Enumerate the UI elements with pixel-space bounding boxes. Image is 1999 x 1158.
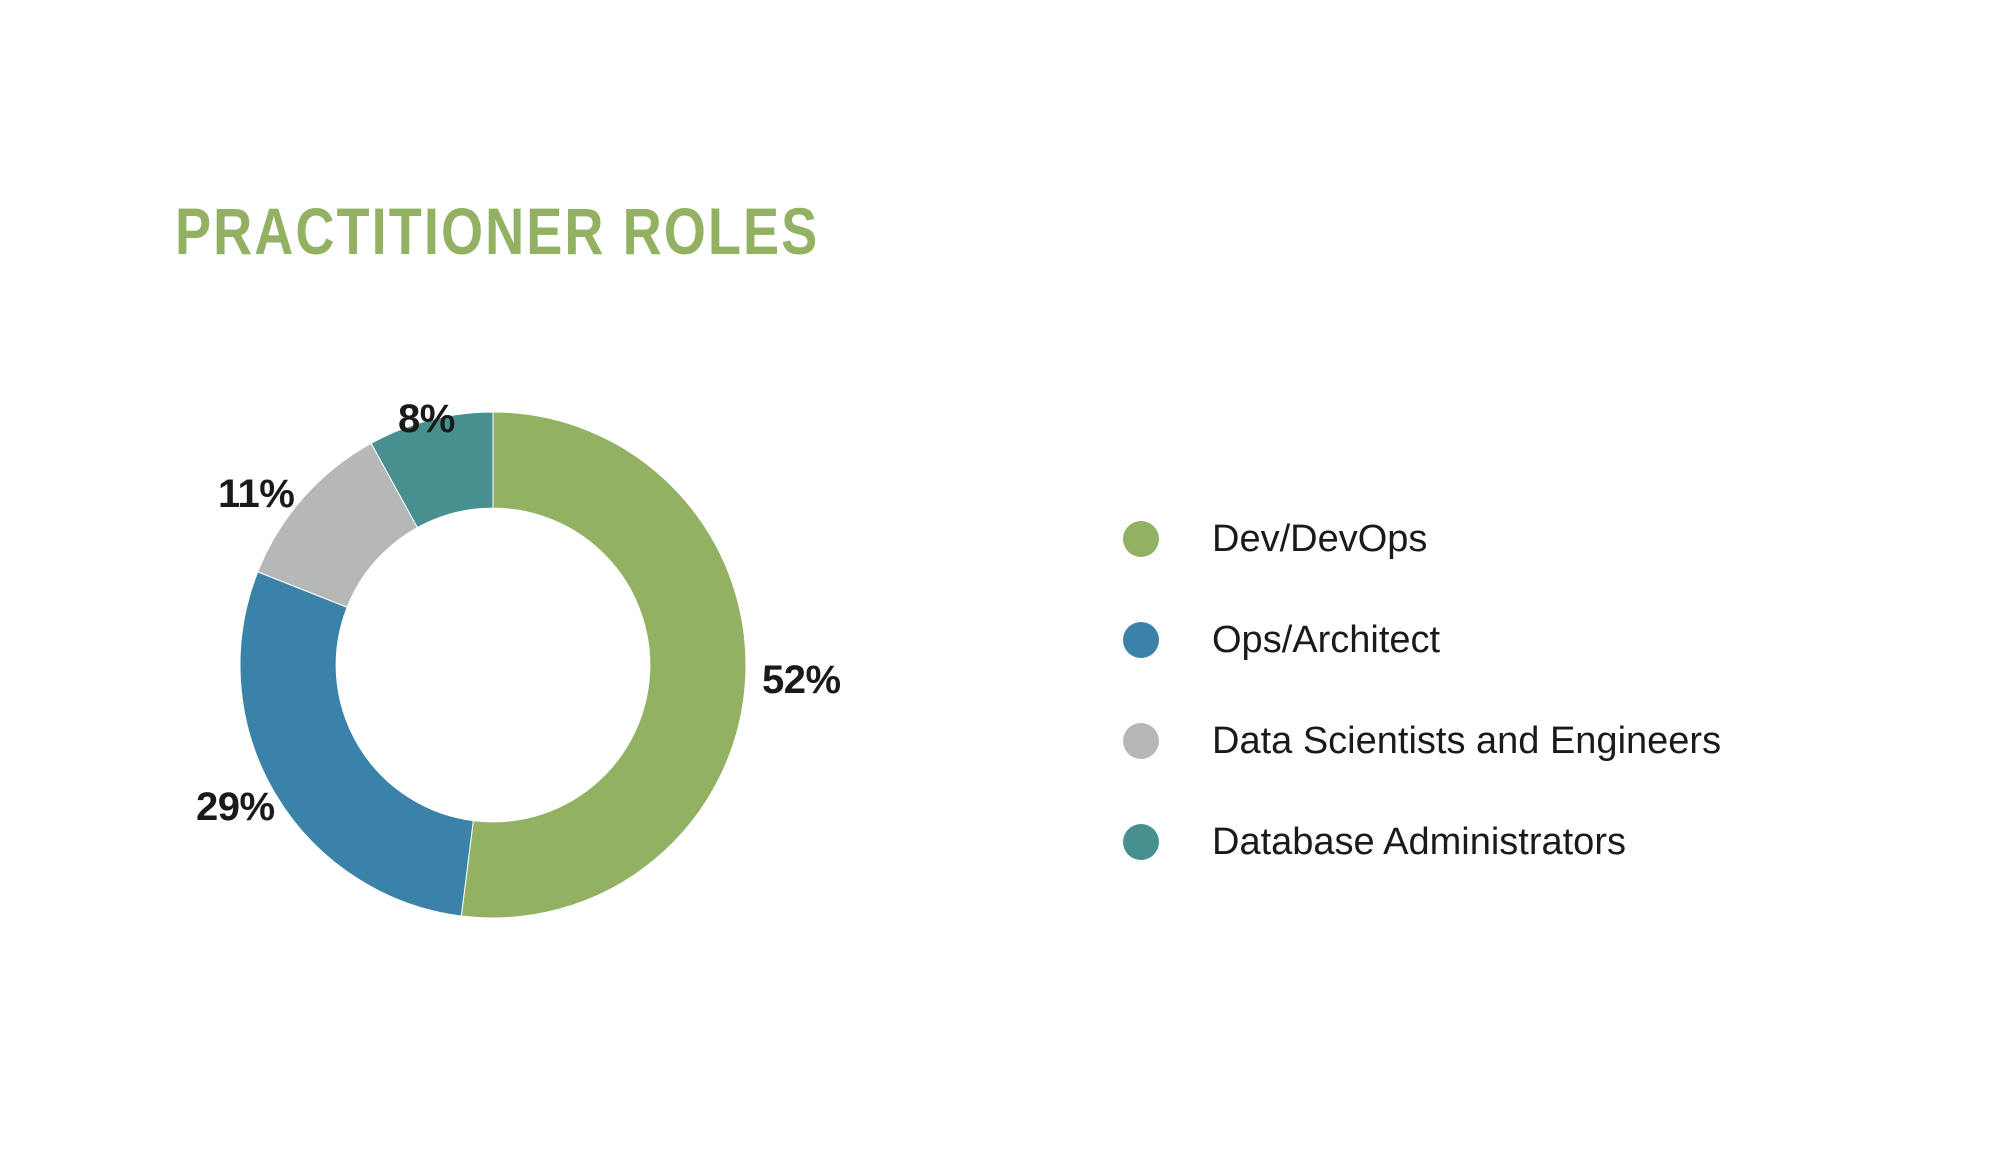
slice-value-label-ops-architect: 29%	[196, 785, 275, 830]
donut-slice-dev-devops[interactable]	[461, 412, 746, 918]
page-title: PRACTITIONER ROLES	[175, 198, 819, 264]
donut-slice-group	[240, 412, 746, 918]
legend-swatch-database-administrators-icon	[1123, 824, 1159, 860]
slice-value-label-database-administrators: 8%	[398, 397, 455, 442]
chart-legend: Dev/DevOps Ops/Architect Data Scientists…	[1123, 488, 1883, 892]
legend-swatch-data-scientists-icon	[1123, 723, 1159, 759]
legend-swatch-dev-devops-icon	[1123, 521, 1159, 557]
slide-canvas: PRACTITIONER ROLES 52% 29% 11% 8% Dev/De…	[0, 0, 1999, 1158]
donut-chart	[238, 410, 748, 920]
slice-value-label-dev-devops: 52%	[762, 658, 841, 703]
donut-slice-ops-architect[interactable]	[240, 572, 473, 916]
legend-item-database-administrators[interactable]: Database Administrators	[1123, 791, 1883, 892]
legend-label-dev-devops: Dev/DevOps	[1212, 520, 1427, 558]
donut-chart-svg	[238, 410, 748, 920]
legend-label-ops-architect: Ops/Architect	[1212, 621, 1440, 659]
legend-label-data-scientists: Data Scientists and Engineers	[1212, 722, 1721, 760]
legend-item-ops-architect[interactable]: Ops/Architect	[1123, 589, 1883, 690]
slice-value-label-data-scientists: 11%	[218, 472, 294, 517]
legend-swatch-ops-architect-icon	[1123, 622, 1159, 658]
legend-item-data-scientists[interactable]: Data Scientists and Engineers	[1123, 690, 1883, 791]
legend-label-database-administrators: Database Administrators	[1212, 823, 1626, 861]
legend-item-dev-devops[interactable]: Dev/DevOps	[1123, 488, 1883, 589]
